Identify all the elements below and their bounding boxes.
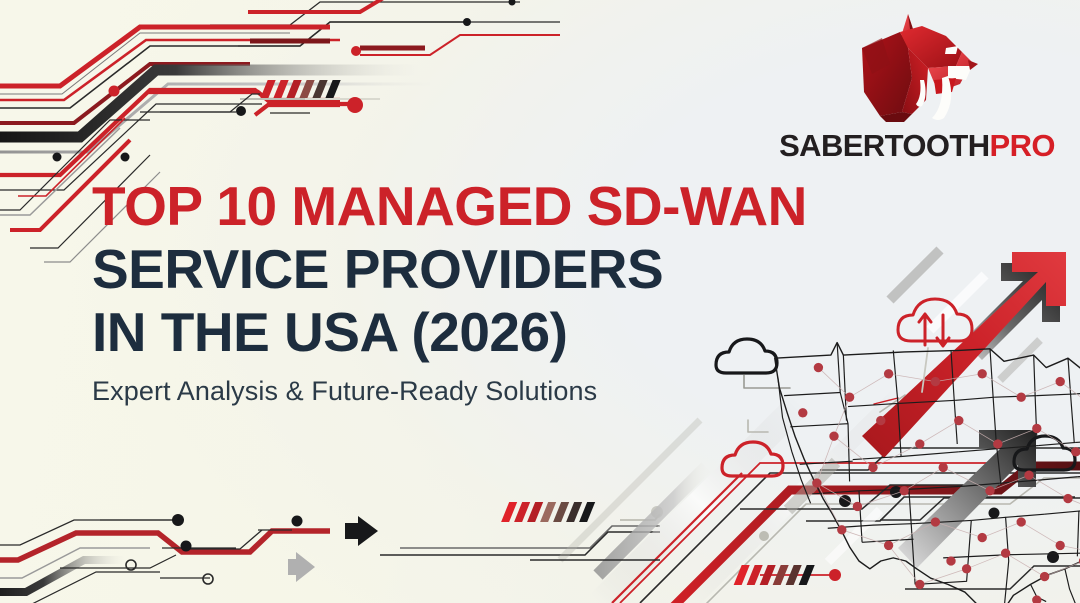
- wordmark-primary: SABERTOOTH: [779, 128, 989, 163]
- headline-block: TOP 10 MANAGED SD-WAN SERVICE PROVIDERS …: [92, 180, 792, 407]
- subtitle: Expert Analysis & Future-Ready Solutions: [92, 376, 792, 407]
- circuit-arrow-black-bottom-left: [345, 516, 378, 546]
- sabertooth-tiger-head-logo-icon: [852, 8, 982, 126]
- headline-line-2: SERVICE PROVIDERS: [92, 243, 792, 297]
- growth-arrows: [828, 252, 1066, 568]
- headline-line-3: IN THE USA (2026): [92, 306, 792, 360]
- brand-logo: SABERTOOTHPRO: [772, 8, 1062, 173]
- wordmark-secondary: PRO: [990, 128, 1055, 163]
- hatch-marks-bottom-center: [501, 502, 595, 522]
- circuit-arrow-gray-bottom-left: [288, 552, 315, 582]
- brand-wordmark: SABERTOOTHPRO: [772, 128, 1062, 164]
- headline-line-1: TOP 10 MANAGED SD-WAN: [92, 180, 792, 234]
- circuit-bottom-left: [0, 514, 378, 603]
- banner-root: TOP 10 MANAGED SD-WAN SERVICE PROVIDERS …: [0, 0, 1080, 603]
